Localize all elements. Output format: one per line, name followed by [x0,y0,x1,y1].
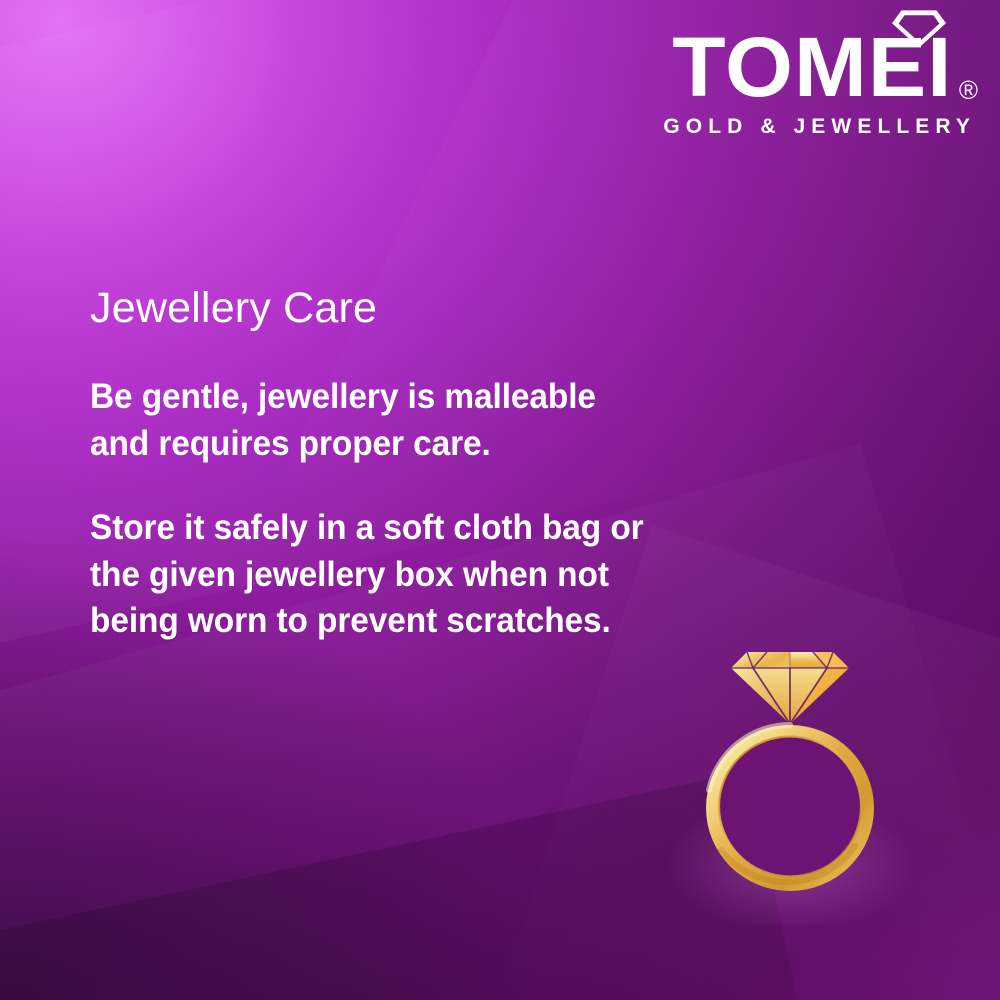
copy-block: Jewellery Care Be gentle, jewellery is m… [90,285,670,645]
jewellery-care-poster: TOMEI ® GOLD & JEWELLERY Jewellery Care … [0,0,1000,1000]
ring-band-icon [706,725,874,891]
registered-trademark-icon: ® [959,77,978,103]
logo-wordmark-row: TOMEI ® [663,28,978,107]
page-title: Jewellery Care [90,285,670,332]
diamond-ring-illustration [695,640,885,905]
care-paragraph-1: Be gentle, jewellery is malleable and re… [90,374,644,467]
logo-tagline: GOLD & JEWELLERY [663,116,976,137]
logo-wordmark-text: TOMEI [673,28,953,107]
diamond-gem-icon [731,652,849,724]
tomei-logo: TOMEI ® GOLD & JEWELLERY [663,6,978,137]
care-paragraph-2: Store it safely in a soft cloth bag or t… [90,505,644,645]
